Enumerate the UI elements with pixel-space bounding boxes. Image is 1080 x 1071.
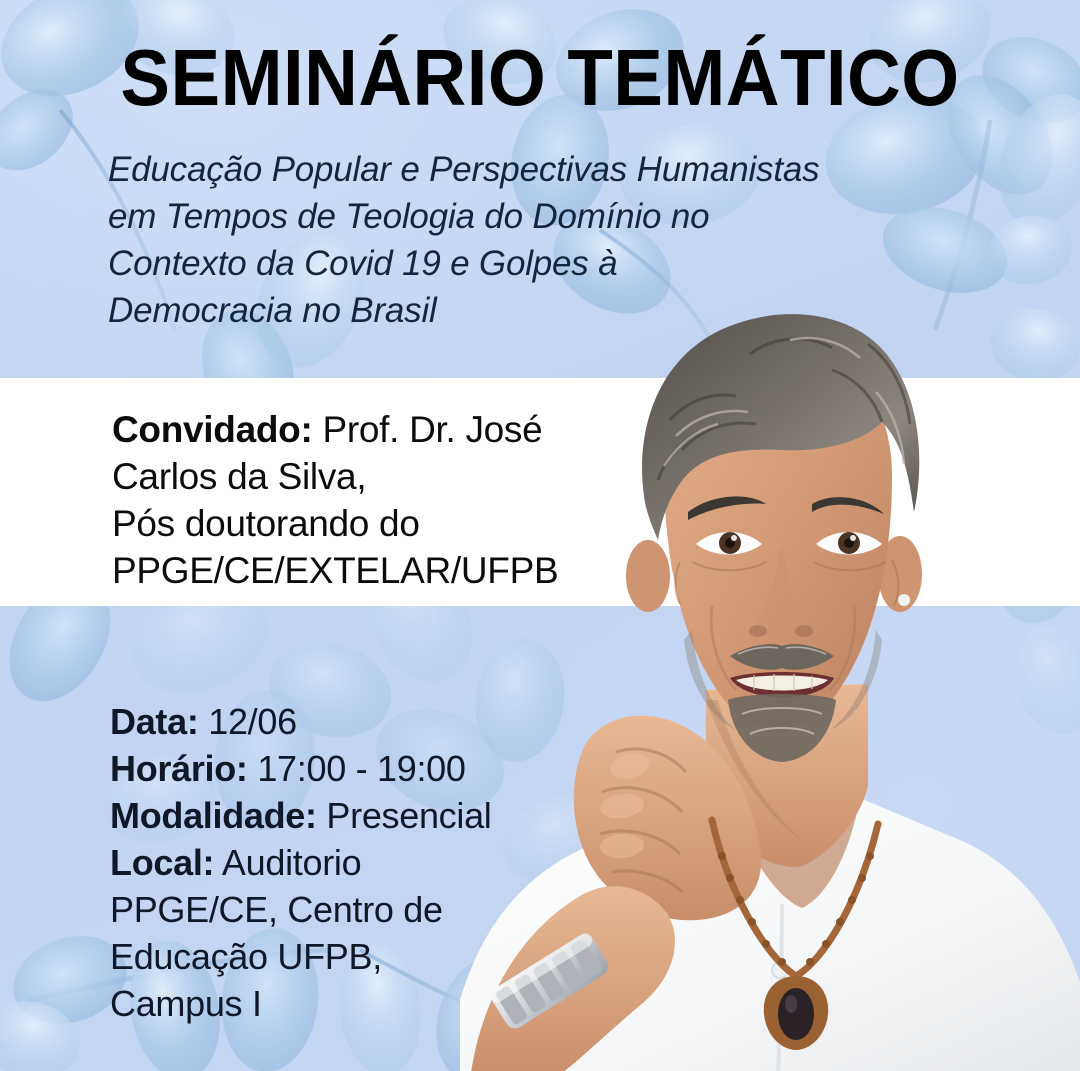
subtitle-line-3: Contexto da Covid 19 e Golpes à [108,240,908,287]
guest-line-4: PPGE/CE/EXTELAR/UFPB [112,547,672,594]
event-details-block: Data: 12/06 Horário: 17:00 - 19:00 Modal… [110,698,630,1027]
detail-value-modalidade: Presencial [317,795,492,836]
detail-row-modalidade: Modalidade: Presencial [110,792,630,839]
event-poster: SEMINÁRIO TEMÁTICO Educação Popular e Pe… [0,0,1080,1071]
detail-label-modalidade: Modalidade: [110,795,317,836]
guest-line-2: Carlos da Silva, [112,453,672,500]
detail-label-local: Local: [110,842,214,883]
poster-subtitle: Educação Popular e Perspectivas Humanist… [108,146,908,334]
guest-line-3: Pós doutorando do [112,500,672,547]
detail-local-line-2: PPGE/CE, Centro de [110,886,630,933]
guest-name-first: Prof. Dr. José [312,409,542,450]
detail-label-horario: Horário: [110,748,248,789]
detail-local-line-3: Educação UFPB, [110,933,630,980]
guest-line-1: Convidado: Prof. Dr. José [112,406,672,453]
guest-label: Convidado: [112,409,312,450]
subtitle-line-1: Educação Popular e Perspectivas Humanist… [108,146,908,193]
page-title: SEMINÁRIO TEMÁTICO [38,38,1042,118]
detail-value-local: Auditorio [214,842,361,883]
detail-row-data: Data: 12/06 [110,698,630,745]
detail-row-horario: Horário: 17:00 - 19:00 [110,745,630,792]
detail-value-horario: 17:00 - 19:00 [248,748,466,789]
guest-info-block: Convidado: Prof. Dr. José Carlos da Silv… [112,406,672,594]
detail-local-line-4: Campus I [110,980,630,1027]
detail-label-data: Data: [110,701,199,742]
detail-value-data: 12/06 [199,701,297,742]
subtitle-line-4: Democracia no Brasil [108,287,908,334]
subtitle-line-2: em Tempos de Teologia do Domínio no [108,193,908,240]
detail-row-local: Local: Auditorio [110,839,630,886]
